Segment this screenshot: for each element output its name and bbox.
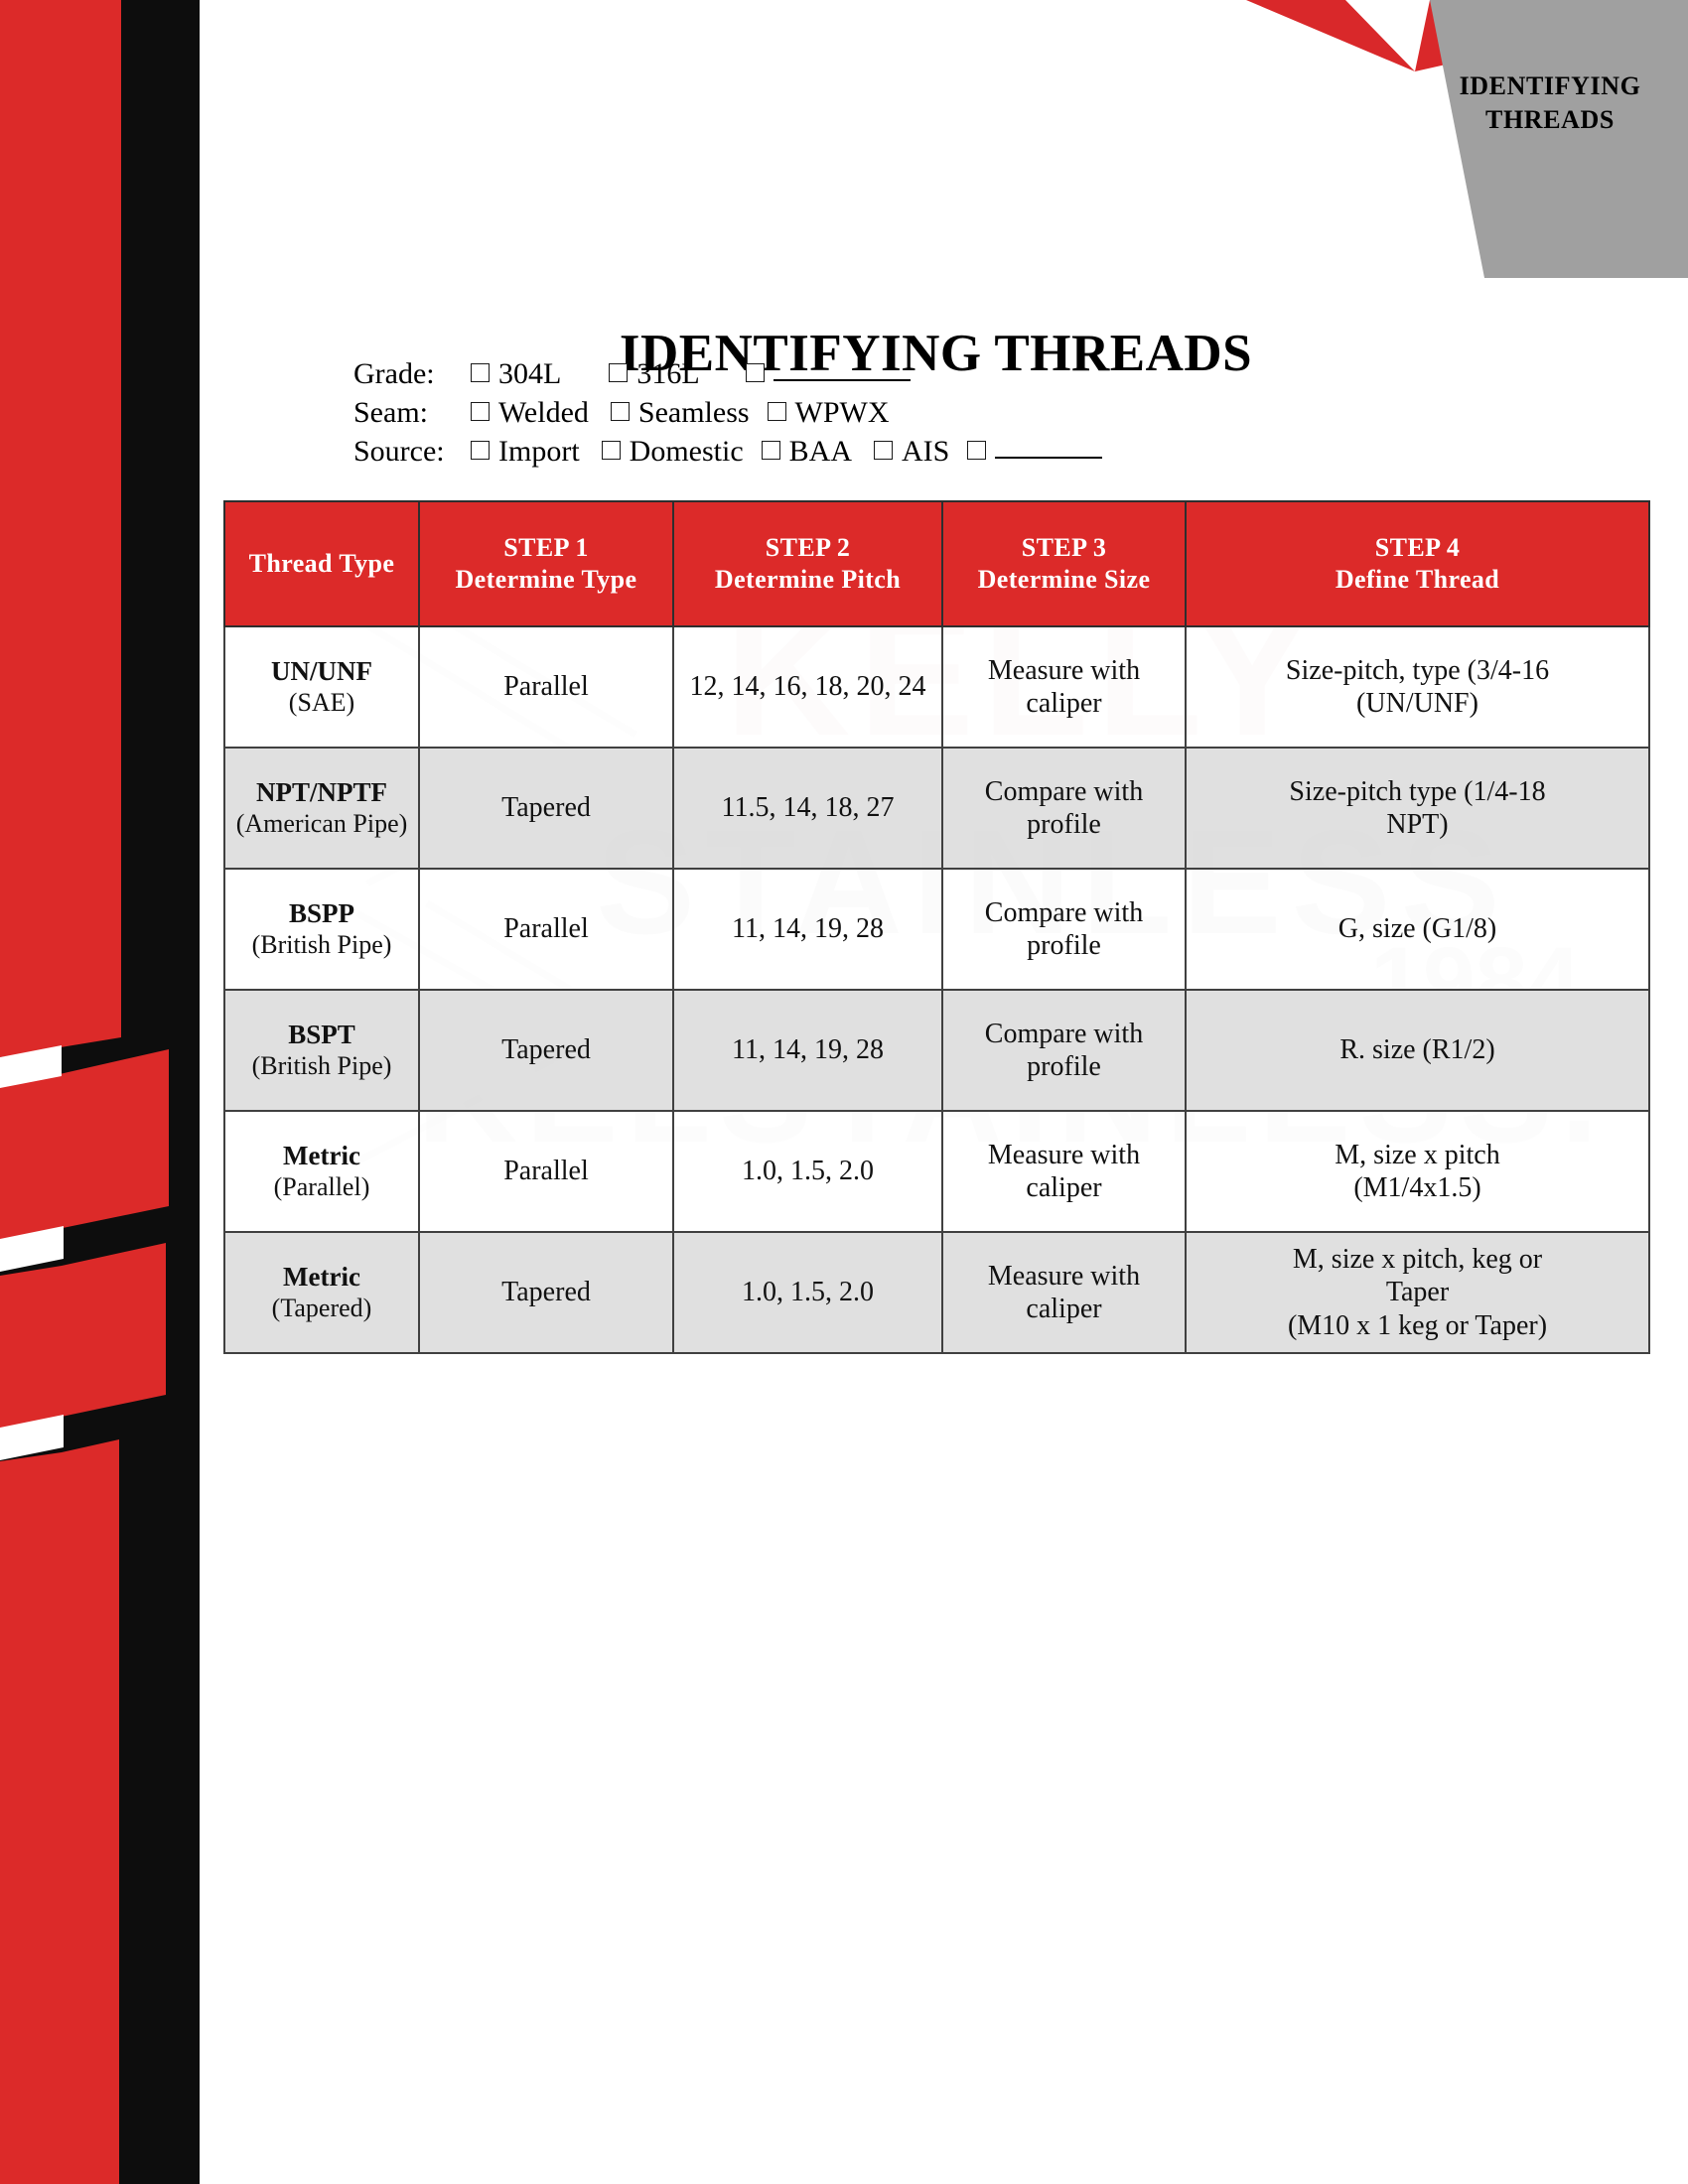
cell-determine-type: Parallel xyxy=(419,869,673,990)
thread-type-subtitle: (American Pipe) xyxy=(233,809,410,840)
cell-determine-size: Measure withcaliper xyxy=(942,1111,1186,1232)
cell-thread-type: NPT/NPTF(American Pipe) xyxy=(224,748,419,869)
column-step-number: STEP 4 xyxy=(1195,532,1640,564)
cell-determine-pitch: 12, 14, 16, 18, 20, 24 xyxy=(673,626,942,748)
thread-type-name: Metric xyxy=(233,1141,410,1172)
table-row: Metric(Tapered)Tapered1.0, 1.5, 2.0Measu… xyxy=(224,1232,1649,1353)
cell-text-line: (M10 x 1 keg or Taper) xyxy=(1195,1309,1640,1342)
thread-type-subtitle: (Parallel) xyxy=(233,1172,410,1203)
column-step-title: Thread Type xyxy=(233,548,410,580)
cell-determine-type: Tapered xyxy=(419,990,673,1111)
cell-define-thread: Size-pitch, type (3/4-16(UN/UNF) xyxy=(1186,626,1649,748)
cell-text-line: M, size x pitch, keg or xyxy=(1195,1243,1640,1276)
table-row: BSPP(British Pipe)Parallel11, 14, 19, 28… xyxy=(224,869,1649,990)
checkbox-label: Import xyxy=(498,437,580,467)
thread-type-name: NPT/NPTF xyxy=(233,777,410,809)
cell-determine-type: Parallel xyxy=(419,626,673,748)
cell-text-line: Size-pitch, type (3/4-16 xyxy=(1195,654,1640,687)
cell-define-thread: M, size x pitch, keg orTaper(M10 x 1 keg… xyxy=(1186,1232,1649,1353)
spec-form-row: Seam:WeldedSeamlessWPWX xyxy=(353,398,1120,437)
cell-text-line: Compare with xyxy=(951,1018,1177,1050)
column-step-number: STEP 2 xyxy=(682,532,933,564)
cell-define-thread: G, size (G1/8) xyxy=(1186,869,1649,990)
table-column-header-1: STEP 1Determine Type xyxy=(419,501,673,626)
checkbox-option[interactable] xyxy=(746,359,911,383)
checkbox-option[interactable]: Seamless xyxy=(611,398,750,428)
checkbox-icon[interactable] xyxy=(768,402,786,421)
write-in-blank-field[interactable] xyxy=(774,357,911,381)
checkbox-icon[interactable] xyxy=(762,441,780,460)
checkbox-label: AIS xyxy=(902,437,949,467)
cell-text-line: caliper xyxy=(951,687,1177,720)
column-step-title: Determine Type xyxy=(428,564,664,596)
checkbox-option[interactable] xyxy=(967,437,1102,461)
checkbox-icon[interactable] xyxy=(611,402,630,421)
checkbox-icon[interactable] xyxy=(967,441,986,460)
column-step-title: Determine Size xyxy=(951,564,1177,596)
cell-thread-type: BSPP(British Pipe) xyxy=(224,869,419,990)
thread-type-subtitle: (SAE) xyxy=(233,688,410,719)
cell-text-line: Compare with xyxy=(951,775,1177,808)
thread-type-name: BSPP xyxy=(233,898,410,930)
cell-thread-type: BSPT(British Pipe) xyxy=(224,990,419,1111)
cell-determine-pitch: 1.0, 1.5, 2.0 xyxy=(673,1111,942,1232)
checkbox-option[interactable]: Domestic xyxy=(602,437,744,467)
thread-type-subtitle: (British Pipe) xyxy=(233,930,410,961)
cell-determine-pitch: 11, 14, 19, 28 xyxy=(673,869,942,990)
checkbox-label: Welded xyxy=(498,398,589,428)
cell-text-line: caliper xyxy=(951,1171,1177,1204)
cell-text-line: Size-pitch type (1/4-18 xyxy=(1195,775,1640,808)
table-column-header-4: STEP 4Define Thread xyxy=(1186,501,1649,626)
page-content: IDENTIFYING THREADS Grade:304L316LSeam:W… xyxy=(0,0,1688,2184)
checkbox-icon[interactable] xyxy=(746,363,765,382)
cell-thread-type: UN/UNF(SAE) xyxy=(224,626,419,748)
cell-text-line: Measure with xyxy=(951,1139,1177,1171)
checkbox-icon[interactable] xyxy=(471,441,490,460)
cell-text-line: (M1/4x1.5) xyxy=(1195,1171,1640,1204)
table-row: Metric(Parallel)Parallel1.0, 1.5, 2.0Mea… xyxy=(224,1111,1649,1232)
checkbox-label: 304L xyxy=(498,359,561,389)
cell-determine-type: Tapered xyxy=(419,748,673,869)
column-step-title: Determine Pitch xyxy=(682,564,933,596)
checkbox-label: BAA xyxy=(789,437,852,467)
thread-type-subtitle: (British Pipe) xyxy=(233,1051,410,1082)
checkbox-option[interactable]: 316L xyxy=(609,359,699,389)
checkbox-option[interactable]: AIS xyxy=(874,437,949,467)
checkbox-label: Seamless xyxy=(638,398,750,428)
checkbox-label: 316L xyxy=(636,359,699,389)
cell-define-thread: Size-pitch type (1/4-18NPT) xyxy=(1186,748,1649,869)
cell-text-line: Compare with xyxy=(951,896,1177,929)
table-row: UN/UNF(SAE)Parallel12, 14, 16, 18, 20, 2… xyxy=(224,626,1649,748)
cell-determine-pitch: 1.0, 1.5, 2.0 xyxy=(673,1232,942,1353)
cell-determine-size: Compare withprofile xyxy=(942,748,1186,869)
cell-determine-pitch: 11.5, 14, 18, 27 xyxy=(673,748,942,869)
cell-text-line: R. size (R1/2) xyxy=(1195,1033,1640,1066)
table-column-header-3: STEP 3Determine Size xyxy=(942,501,1186,626)
cell-text-line: profile xyxy=(951,929,1177,962)
thread-identification-table: Thread TypeSTEP 1Determine TypeSTEP 2Det… xyxy=(223,500,1650,1354)
checkbox-option[interactable]: 304L xyxy=(471,359,561,389)
checkbox-icon[interactable] xyxy=(471,402,490,421)
thread-type-subtitle: (Tapered) xyxy=(233,1294,410,1324)
checkbox-icon[interactable] xyxy=(602,441,621,460)
cell-thread-type: Metric(Parallel) xyxy=(224,1111,419,1232)
checkbox-option[interactable]: Welded xyxy=(471,398,589,428)
cell-text-line: NPT) xyxy=(1195,808,1640,841)
table-header-row: Thread TypeSTEP 1Determine TypeSTEP 2Det… xyxy=(224,501,1649,626)
cell-text-line: caliper xyxy=(951,1293,1177,1325)
cell-determine-size: Compare withprofile xyxy=(942,869,1186,990)
cell-determine-type: Parallel xyxy=(419,1111,673,1232)
column-step-title: Define Thread xyxy=(1195,564,1640,596)
write-in-blank-field[interactable] xyxy=(995,435,1102,459)
cell-define-thread: M, size x pitch(M1/4x1.5) xyxy=(1186,1111,1649,1232)
cell-determine-pitch: 11, 14, 19, 28 xyxy=(673,990,942,1111)
table-row: BSPT(British Pipe)Tapered11, 14, 19, 28C… xyxy=(224,990,1649,1111)
checkbox-label: WPWX xyxy=(795,398,890,428)
checkbox-icon[interactable] xyxy=(471,363,490,382)
cell-text-line: G, size (G1/8) xyxy=(1195,912,1640,945)
checkbox-option[interactable]: WPWX xyxy=(768,398,890,428)
spec-form-row: Source:ImportDomesticBAAAIS xyxy=(353,437,1120,476)
table-column-header-2: STEP 2Determine Pitch xyxy=(673,501,942,626)
cell-text-line: Taper xyxy=(1195,1276,1640,1308)
column-step-number: STEP 3 xyxy=(951,532,1177,564)
checkbox-option[interactable]: BAA xyxy=(762,437,852,467)
specification-form: Grade:304L316LSeam:WeldedSeamlessWPWXSou… xyxy=(353,359,1120,476)
spec-form-label: Source: xyxy=(353,437,471,467)
cell-text-line: M, size x pitch xyxy=(1195,1139,1640,1171)
cell-text-line: profile xyxy=(951,808,1177,841)
column-step-number: STEP 1 xyxy=(428,532,664,564)
thread-type-name: Metric xyxy=(233,1262,410,1294)
checkbox-icon[interactable] xyxy=(609,363,628,382)
table-row: NPT/NPTF(American Pipe)Tapered11.5, 14, … xyxy=(224,748,1649,869)
cell-text-line: Measure with xyxy=(951,1260,1177,1293)
checkbox-option[interactable]: Import xyxy=(471,437,580,467)
cell-determine-type: Tapered xyxy=(419,1232,673,1353)
table-header: Thread TypeSTEP 1Determine TypeSTEP 2Det… xyxy=(224,501,1649,626)
checkbox-label: Domestic xyxy=(630,437,744,467)
cell-determine-size: Compare withprofile xyxy=(942,990,1186,1111)
checkbox-icon[interactable] xyxy=(874,441,893,460)
thread-type-name: UN/UNF xyxy=(233,656,410,688)
table-body: UN/UNF(SAE)Parallel12, 14, 16, 18, 20, 2… xyxy=(224,626,1649,1353)
cell-determine-size: Measure withcaliper xyxy=(942,1232,1186,1353)
spec-form-row: Grade:304L316L xyxy=(353,359,1120,398)
thread-type-name: BSPT xyxy=(233,1020,410,1051)
cell-text-line: profile xyxy=(951,1050,1177,1083)
cell-text-line: (UN/UNF) xyxy=(1195,687,1640,720)
cell-text-line: Measure with xyxy=(951,654,1177,687)
table-column-header-0: Thread Type xyxy=(224,501,419,626)
cell-thread-type: Metric(Tapered) xyxy=(224,1232,419,1353)
cell-determine-size: Measure withcaliper xyxy=(942,626,1186,748)
cell-define-thread: R. size (R1/2) xyxy=(1186,990,1649,1111)
spec-form-label: Seam: xyxy=(353,398,471,428)
spec-form-label: Grade: xyxy=(353,359,471,389)
